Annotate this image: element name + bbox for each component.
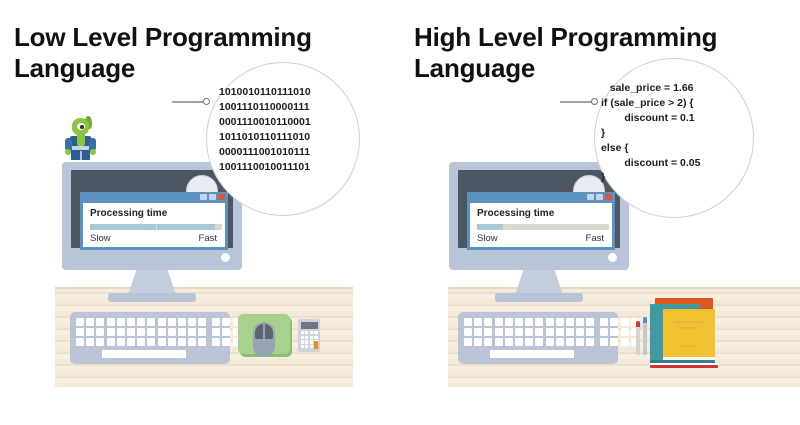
minimize-button[interactable] [200,194,207,200]
keyboard-key[interactable] [212,318,220,326]
keyboard-key[interactable] [188,318,196,326]
dialog-title-label: Processing time [477,208,554,219]
calculator-equals-key[interactable] [314,341,317,349]
keyboard-key[interactable] [464,318,472,326]
keyboard-key-area [464,318,639,346]
keyboard-key-area [76,318,251,346]
keyboard-key[interactable] [505,318,513,326]
close-button[interactable] [218,194,225,200]
pen-blue[interactable] [643,323,647,355]
keyboard-key[interactable] [600,338,608,346]
maximize-button[interactable] [209,194,216,200]
keyboard-key[interactable] [96,328,104,336]
keyboard-left[interactable] [70,312,230,364]
keyboard-key[interactable] [86,328,94,336]
keyboard-main-keys [464,318,594,346]
close-button[interactable] [605,194,612,200]
progress-bar-fill [477,224,503,230]
keyboard-numpad-keys [600,318,639,346]
monitor-power-led-icon [608,253,617,262]
window-controls[interactable] [200,194,225,200]
dialog-title-bar [467,192,615,203]
keyboard-key[interactable] [222,338,230,346]
keyboard-key[interactable] [76,338,84,346]
monitor-stand-base [108,293,196,302]
keyboard-key[interactable] [158,318,166,326]
processing-time-dialog[interactable]: Processing time Slow Fast [467,192,615,250]
calculator-display [301,322,318,329]
keyboard-key[interactable] [117,338,125,346]
lego-minifigure [65,118,96,162]
progress-label-slow: Slow [90,233,111,244]
bubble-leader-dot [591,98,598,105]
keyboard-key[interactable] [484,328,492,336]
book-cover-line [677,327,699,329]
figure-leg-split [80,151,82,160]
mouse[interactable] [253,322,275,356]
keyboard-key[interactable] [556,338,564,346]
keyboard-key[interactable] [535,338,543,346]
keyboard-key[interactable] [505,328,513,336]
bubble-leader-dot [203,98,210,105]
book-yellow [663,309,715,362]
calculator-key[interactable] [310,331,313,334]
keyboard-key[interactable] [556,318,564,326]
keyboard-key[interactable] [464,328,472,336]
keyboard-key[interactable] [117,318,125,326]
progress-label-fast: Fast [199,233,217,244]
monitor-stand-neck [128,269,176,295]
window-controls[interactable] [587,194,612,200]
keyboard-key[interactable] [566,338,574,346]
code-bubble-binary: 1010010110111010 1001110110000111 000111… [206,62,360,216]
calculator-key[interactable] [301,340,304,343]
keyboard-right[interactable] [458,312,618,364]
keyboard-key[interactable] [610,328,618,336]
calculator-key[interactable] [305,336,308,339]
keyboard-key[interactable] [586,338,594,346]
panel-low-level: Low Level Programming Language [0,0,400,425]
keyboard-key[interactable] [107,338,115,346]
calculator-key[interactable] [305,345,308,348]
keyboard-key[interactable] [474,318,482,326]
keyboard-key[interactable] [178,338,186,346]
monitor-stand-neck [515,269,563,295]
monitor-stand-base [495,293,583,302]
bubble-leader-line [560,101,592,103]
keyboard-key[interactable] [610,338,618,346]
keyboard-key[interactable] [147,318,155,326]
keyboard-spacebar[interactable] [490,350,574,358]
keyboard-key[interactable] [546,328,554,336]
keyboard-key[interactable] [147,338,155,346]
keyboard-key[interactable] [76,328,84,336]
panel-high-level: High Level Programming Language Processi… [400,0,800,425]
keyboard-key[interactable] [188,338,196,346]
keyboard-key[interactable] [525,318,533,326]
keyboard-key[interactable] [600,318,608,326]
keyboard-key[interactable] [576,328,584,336]
binary-code-text: 1010010110111010 1001110110000111 000111… [219,85,311,174]
figure-hand-right [90,149,96,155]
keyboard-key[interactable] [464,338,472,346]
keyboard-key[interactable] [566,328,574,336]
keyboard-key[interactable] [586,328,594,336]
keyboard-key[interactable] [495,318,503,326]
keyboard-key[interactable] [127,328,135,336]
processing-time-dialog[interactable]: Processing time Slow Fast [80,192,228,250]
keyboard-key[interactable] [127,338,135,346]
keyboard-key[interactable] [505,338,513,346]
keyboard-key[interactable] [168,338,176,346]
keyboard-key[interactable] [484,318,492,326]
calculator-key[interactable] [310,336,313,339]
keyboard-key[interactable] [178,318,186,326]
keyboard-key[interactable] [621,328,629,336]
monitor-left: Processing time Slow Fast [62,162,242,304]
keyboard-key[interactable] [198,338,206,346]
keyboard-key[interactable] [535,318,543,326]
keyboard-key[interactable] [546,338,554,346]
progress-bar-track [90,224,222,230]
keyboard-key[interactable] [158,338,166,346]
keyboard-key[interactable] [621,338,629,346]
keyboard-key[interactable] [137,338,145,346]
keyboard-key[interactable] [76,318,84,326]
keyboard-key[interactable] [198,328,206,336]
keyboard-key[interactable] [198,318,206,326]
maximize-button[interactable] [596,194,603,200]
keyboard-key[interactable] [168,328,176,336]
keyboard-key[interactable] [576,318,584,326]
keyboard-key[interactable] [621,318,629,326]
keyboard-key[interactable] [515,328,523,336]
keyboard-key[interactable] [147,328,155,336]
keyboard-key[interactable] [188,328,196,336]
pen-blue-cap [643,317,647,323]
calculator-key[interactable] [301,345,304,348]
calculator-key[interactable] [301,336,304,339]
dialog-title-bar [80,192,228,203]
calculator-key[interactable] [305,331,308,334]
book-cover-line [673,321,705,323]
keyboard-key[interactable] [137,318,145,326]
bubble-leader-line [172,101,204,103]
keyboard-key[interactable] [495,338,503,346]
book-cover-line [679,345,697,347]
keyboard-key[interactable] [566,318,574,326]
keyboard-key[interactable] [107,328,115,336]
keyboard-key[interactable] [178,328,186,336]
book-red-bottom [650,365,718,368]
keyboard-key[interactable] [484,338,492,346]
keyboard-key[interactable] [525,328,533,336]
keyboard-key[interactable] [86,318,94,326]
keyboard-key[interactable] [117,328,125,336]
progress-label-fast: Fast [586,233,604,244]
keyboard-key[interactable] [556,328,564,336]
dialog-title-label: Processing time [90,208,167,219]
calculator-key[interactable] [305,340,308,343]
keyboard-key[interactable] [610,318,618,326]
pen-red[interactable] [636,326,640,355]
calculator-key[interactable] [314,331,317,334]
page-title-high-level: High Level Programming Language [414,22,784,83]
keyboard-key[interactable] [212,338,220,346]
page-title-low-level: Low Level Programming Language [14,22,384,83]
pen-red-cap [636,321,640,327]
progress-bar-fill [90,224,215,230]
keyboard-key[interactable] [96,318,104,326]
calculator-key[interactable] [301,331,304,334]
keyboard-key[interactable] [222,328,230,336]
keyboard-key[interactable] [474,338,482,346]
keyboard-key[interactable] [137,328,145,336]
figure-pupil-icon [80,125,84,129]
keyboard-key[interactable] [474,328,482,336]
keyboard-key[interactable] [158,328,166,336]
calculator[interactable] [298,319,320,352]
keyboard-key[interactable] [107,318,115,326]
keyboard-key[interactable] [222,318,230,326]
calculator-key[interactable] [310,345,313,348]
keyboard-spacebar[interactable] [102,350,186,358]
calculator-key[interactable] [310,340,313,343]
keyboard-key[interactable] [515,338,523,346]
minimize-button[interactable] [587,194,594,200]
keyboard-key[interactable] [515,318,523,326]
keyboard-key[interactable] [212,328,220,336]
keyboard-key[interactable] [168,318,176,326]
progress-bar-track [477,224,609,230]
keyboard-key[interactable] [86,338,94,346]
progress-label-slow: Slow [477,233,498,244]
source-code-text: sale_price = 1.66 if (sale_price > 2) { … [601,81,701,185]
keyboard-key[interactable] [586,318,594,326]
progress-bar-divider [156,224,157,230]
keyboard-key[interactable] [127,318,135,326]
keyboard-key[interactable] [600,328,608,336]
keyboard-key[interactable] [576,338,584,346]
monitor-power-led-icon [221,253,230,262]
calculator-key[interactable] [314,336,317,339]
keyboard-key[interactable] [546,318,554,326]
keyboard-key[interactable] [495,328,503,336]
keyboard-key[interactable] [535,328,543,336]
keyboard-key[interactable] [96,338,104,346]
keyboard-key[interactable] [525,338,533,346]
keyboard-main-keys [76,318,206,346]
figure-belt [72,146,89,150]
mouse-button-divider [263,324,265,339]
code-bubble-source: sale_price = 1.66 if (sale_price > 2) { … [594,58,754,218]
